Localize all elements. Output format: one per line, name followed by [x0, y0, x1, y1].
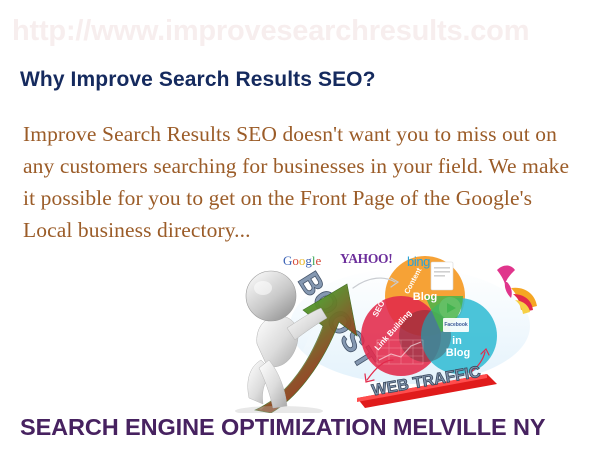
site-url-watermark: http://www.improvesearchresults.com — [12, 17, 592, 46]
footer-title: SEARCH ENGINE OPTIMIZATION MELVILLE NY — [20, 414, 545, 441]
body-paragraph: Improve Search Results SEO doesn't want … — [23, 118, 575, 246]
document-icon — [431, 262, 453, 290]
slide-canvas: http://www.improvesearchresults.com Why … — [0, 0, 600, 450]
venn-label-blog: Blog — [413, 291, 437, 303]
facebook-card: Facebook — [443, 318, 469, 332]
seo-illustration: B O O S T — [235, 248, 565, 413]
figure-head — [246, 271, 296, 321]
page-title: Why Improve Search Results SEO? — [20, 68, 376, 92]
illustration-graphic: B O O S T — [235, 248, 565, 413]
venn-label-blog2: Blog — [446, 347, 470, 359]
svg-text:Facebook: Facebook — [444, 322, 468, 328]
venn-label-in: in — [452, 335, 462, 347]
